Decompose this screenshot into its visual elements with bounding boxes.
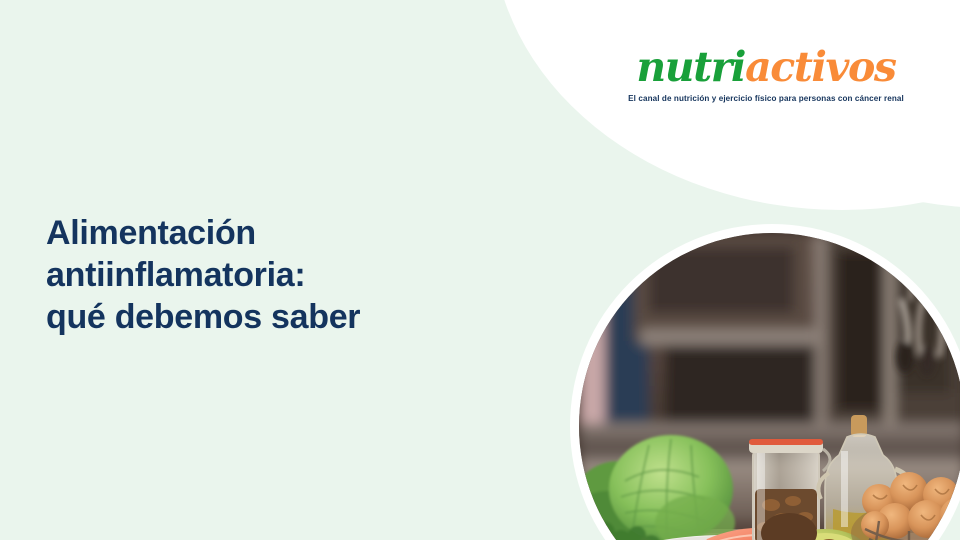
food-photo — [579, 233, 960, 540]
logo-word-primary: nutri — [636, 43, 745, 91]
logo-word-secondary: activos — [745, 43, 896, 91]
brand-logo: nutriactivos El canal de nutrición y eje… — [622, 47, 910, 103]
logo-tagline: El canal de nutrición y ejercicio físico… — [622, 94, 910, 103]
title-line-2: antiinflamatoria: — [46, 254, 516, 296]
slide-title: Alimentación antiinflamatoria: qué debem… — [46, 212, 516, 338]
slide-root: nutriactivos El canal de nutrición y eje… — [0, 0, 960, 540]
title-line-1: Alimentación — [46, 212, 516, 254]
title-line-3: qué debemos saber — [46, 296, 516, 338]
logo-wordmark: nutriactivos — [622, 47, 910, 88]
food-photo-illustration — [579, 233, 960, 540]
food-photo-frame — [570, 224, 960, 540]
